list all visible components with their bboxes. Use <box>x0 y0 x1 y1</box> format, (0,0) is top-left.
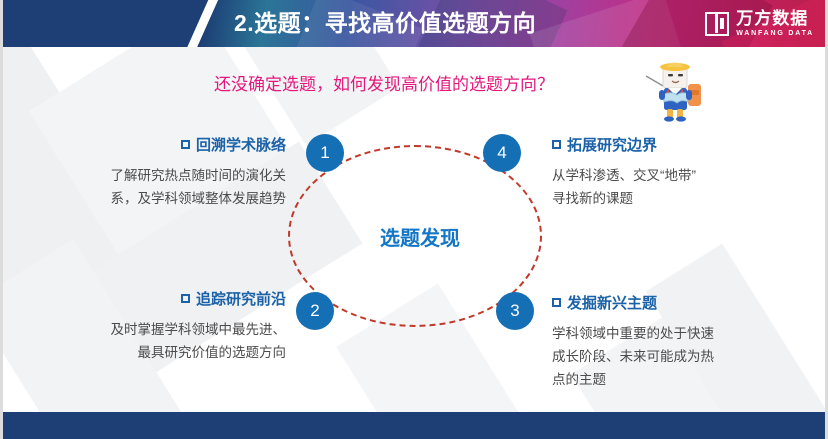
block-body-line: 寻找新的课题 <box>552 187 817 210</box>
block-body-line: 最具研究价值的选题方向 <box>48 341 286 364</box>
book-icon <box>705 12 729 36</box>
step-marker-1[interactable]: 1 <box>306 134 344 172</box>
slide-header: 2.选题：寻找高价值选题方向 万方数据 WANFANG DATA <box>0 0 828 47</box>
logo-name-cn: 万方数据 <box>736 10 814 27</box>
block-body: 及时掌握学科领域中最先进、 最具研究价值的选题方向 <box>48 318 286 364</box>
center-label: 选题发现 <box>355 222 485 251</box>
page-title: 2.选题：寻找高价值选题方向 <box>234 0 536 47</box>
step-marker-4[interactable]: 4 <box>483 134 521 172</box>
square-bullet-icon <box>181 140 190 149</box>
block-heading: 拓展研究边界 <box>552 134 817 155</box>
logo-text: 万方数据 WANFANG DATA <box>736 10 814 37</box>
block-heading-text: 回溯学术脉络 <box>196 137 286 154</box>
block-heading-text: 发掘新兴主题 <box>567 295 657 312</box>
block-body-line: 成长阶段、未来可能成为热 <box>552 345 817 368</box>
content-block-discover-emerging-topics: 发掘新兴主题 学科领域中重要的处于快速 成长阶段、未来可能成为热 点的主题 <box>552 292 817 392</box>
slide-canvas: 2.选题：寻找高价值选题方向 万方数据 WANFANG DATA 还没确定选题，… <box>0 0 828 439</box>
block-body: 学科领域中重要的处于快速 成长阶段、未来可能成为热 点的主题 <box>552 322 817 392</box>
block-body-line: 点的主题 <box>552 368 817 391</box>
block-heading: 发掘新兴主题 <box>552 292 817 313</box>
square-bullet-icon <box>552 140 561 149</box>
logo-name-en: WANFANG DATA <box>736 30 814 37</box>
block-heading: 追踪研究前沿 <box>48 288 286 309</box>
square-bullet-icon <box>552 298 561 307</box>
block-body: 从学科渗透、交叉“地带” 寻找新的课题 <box>552 164 817 210</box>
slide-edge-left <box>0 0 3 439</box>
content-block-expand-research-boundary: 拓展研究边界 从学科渗透、交叉“地带” 寻找新的课题 <box>552 134 817 210</box>
content-block-track-research-frontier: 追踪研究前沿 及时掌握学科领域中最先进、 最具研究价值的选题方向 <box>48 288 286 364</box>
slide-footer-bar <box>0 412 828 439</box>
step-marker-2[interactable]: 2 <box>296 292 334 330</box>
wanfang-logo: 万方数据 WANFANG DATA <box>705 8 814 39</box>
block-heading-text: 追踪研究前沿 <box>196 291 286 308</box>
block-body-line: 系，及学科领域整体发展趋势 <box>48 187 286 210</box>
student-mascot-icon <box>644 56 718 126</box>
block-body-line: 从学科渗透、交叉“地带” <box>552 164 817 187</box>
block-body-line: 了解研究热点随时间的演化关 <box>48 164 286 187</box>
block-heading: 回溯学术脉络 <box>48 134 286 155</box>
block-heading-text: 拓展研究边界 <box>567 137 657 154</box>
content-block-retrace-academic-context: 回溯学术脉络 了解研究热点随时间的演化关 系，及学科领域整体发展趋势 <box>48 134 286 210</box>
block-body-line: 及时掌握学科领域中最先进、 <box>48 318 286 341</box>
step-marker-3[interactable]: 3 <box>496 292 534 330</box>
square-bullet-icon <box>181 294 190 303</box>
block-body: 了解研究热点随时间的演化关 系，及学科领域整体发展趋势 <box>48 164 286 210</box>
block-body-line: 学科领域中重要的处于快速 <box>552 322 817 345</box>
